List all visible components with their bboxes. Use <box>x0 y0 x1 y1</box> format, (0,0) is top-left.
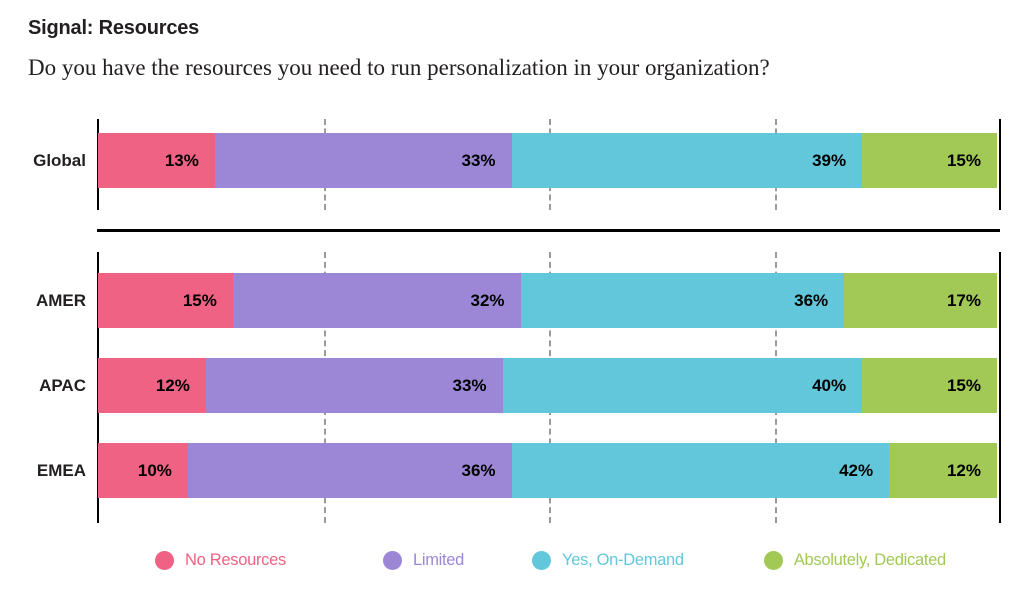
bar-global: 13%33%39%15% <box>98 133 997 188</box>
stacked-bar-chart: Global13%33%39%15%AMER15%32%36%17%APAC12… <box>0 0 1024 595</box>
segment-value-label: 36% <box>461 461 511 481</box>
chart-right-border <box>999 252 1001 523</box>
legend-label: Limited <box>413 551 464 570</box>
segment-limited: 32% <box>233 273 521 328</box>
segment-yes-on-demand: 36% <box>521 273 845 328</box>
segment-value-label: 40% <box>812 376 862 396</box>
row-label-global: Global <box>0 151 86 171</box>
segment-value-label: 12% <box>947 461 997 481</box>
segment-value-label: 15% <box>183 291 233 311</box>
legend-label: Absolutely, Dedicated <box>794 551 946 570</box>
segment-absolutely-dedicated: 17% <box>844 273 997 328</box>
legend-label: Yes, On-Demand <box>562 551 684 570</box>
segment-value-label: 42% <box>839 461 889 481</box>
segment-absolutely-dedicated: 12% <box>889 443 997 498</box>
bar-emea: 10%36%42%12% <box>98 443 997 498</box>
group-separator-line <box>97 229 1000 232</box>
segment-no-resources: 12% <box>98 358 206 413</box>
segment-no-resources: 10% <box>98 443 188 498</box>
segment-yes-on-demand: 40% <box>503 358 863 413</box>
chart-right-border <box>999 119 1001 210</box>
segment-value-label: 32% <box>470 291 520 311</box>
segment-value-label: 15% <box>947 376 997 396</box>
legend-swatch-icon <box>764 551 783 570</box>
legend-item-yes-on-demand[interactable]: Yes, On-Demand <box>532 551 684 570</box>
segment-value-label: 12% <box>156 376 206 396</box>
row-label-emea: EMEA <box>0 461 86 481</box>
segment-value-label: 15% <box>947 151 997 171</box>
legend-swatch-icon <box>532 551 551 570</box>
legend-label: No Resources <box>185 551 286 570</box>
row-label-apac: APAC <box>0 376 86 396</box>
segment-limited: 36% <box>188 443 512 498</box>
segment-value-label: 33% <box>461 151 511 171</box>
legend-item-absolutely-dedicated[interactable]: Absolutely, Dedicated <box>764 551 946 570</box>
segment-value-label: 17% <box>947 291 997 311</box>
segment-value-label: 13% <box>165 151 215 171</box>
segment-value-label: 39% <box>812 151 862 171</box>
segment-absolutely-dedicated: 15% <box>862 133 997 188</box>
chart-legend: No ResourcesLimitedYes, On-DemandAbsolut… <box>155 543 1015 577</box>
legend-item-no-resources[interactable]: No Resources <box>155 551 286 570</box>
legend-swatch-icon <box>383 551 402 570</box>
bar-apac: 12%33%40%15% <box>98 358 997 413</box>
segment-no-resources: 15% <box>98 273 233 328</box>
segment-absolutely-dedicated: 15% <box>862 358 997 413</box>
bar-amer: 15%32%36%17% <box>98 273 997 328</box>
segment-limited: 33% <box>215 133 512 188</box>
segment-limited: 33% <box>206 358 503 413</box>
row-label-amer: AMER <box>0 291 86 311</box>
segment-yes-on-demand: 39% <box>512 133 863 188</box>
segment-value-label: 10% <box>138 461 188 481</box>
segment-yes-on-demand: 42% <box>512 443 890 498</box>
segment-no-resources: 13% <box>98 133 215 188</box>
legend-swatch-icon <box>155 551 174 570</box>
segment-value-label: 33% <box>453 376 503 396</box>
segment-value-label: 36% <box>794 291 844 311</box>
legend-item-limited[interactable]: Limited <box>383 551 464 570</box>
